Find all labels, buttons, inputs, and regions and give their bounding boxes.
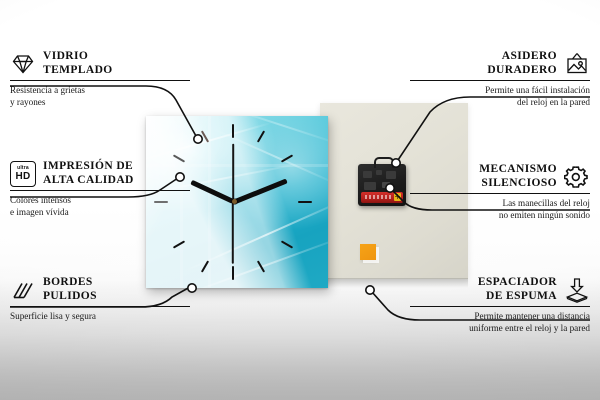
wall-hanger-icon [564, 51, 590, 77]
hd-label: HD [15, 171, 30, 182]
ultra-hd-icon: ultra HD [10, 161, 36, 187]
clock-tick [298, 201, 312, 203]
battery-positive-terminal [394, 193, 401, 201]
callout-espaciador-de-espuma[interactable]: ESPACIADORDE ESPUMA Permite mantener una… [410, 276, 590, 334]
callout-asidero-duradero[interactable]: ASIDERODURADERO Permite una fácil instal… [410, 50, 590, 108]
battery-label [365, 195, 391, 199]
gear-icon [564, 164, 590, 190]
mechanism-detail [382, 182, 390, 188]
callout-title: MECANISMOSILENCIOSO [479, 163, 557, 190]
mechanism-hanger-hook [374, 157, 394, 168]
callout-description: Resistencia a grietasy rayones [10, 85, 190, 108]
callout-title: VIDRIOTEMPLADO [43, 50, 113, 77]
callout-description: Colores intensose imagen vívida [10, 195, 190, 218]
callout-header: ultra HD IMPRESIÓN DEALTA CALIDAD [10, 160, 190, 187]
diamond-icon [10, 51, 36, 77]
callout-description: Permite mantener una distanciauniforme e… [410, 311, 590, 334]
mechanism-detail [376, 170, 382, 175]
callout-description: Permite una fácil instalacióndel reloj e… [410, 85, 590, 108]
callout-rule [410, 80, 590, 81]
callout-rule [10, 306, 190, 307]
callout-mecanismo-silencioso[interactable]: MECANISMOSILENCIOSO Las manecillas del r… [410, 163, 590, 221]
infographic-canvas: VIDRIOTEMPLADO Resistencia a grietasy ra… [0, 0, 600, 400]
battery [361, 192, 403, 203]
callout-rule [410, 306, 590, 307]
callout-rule [410, 193, 590, 194]
clock-center-pivot [232, 199, 237, 204]
clock-tick [232, 124, 234, 138]
callout-vidrio-templado[interactable]: VIDRIOTEMPLADO Resistencia a grietasy ra… [10, 50, 190, 108]
callout-rule [10, 190, 190, 191]
callout-title: ESPACIADORDE ESPUMA [478, 276, 557, 303]
clock-second-hand-tail [232, 144, 234, 202]
callout-title: IMPRESIÓN DEALTA CALIDAD [43, 160, 134, 187]
mechanism-detail [386, 171, 396, 179]
polished-edges-icon [10, 277, 36, 303]
callout-impresion-de-alta-calidad[interactable]: ultra HD IMPRESIÓN DEALTA CALIDAD Colore… [10, 160, 190, 218]
mechanism-detail [363, 171, 372, 178]
callout-header: MECANISMOSILENCIOSO [410, 163, 590, 190]
callout-header: BORDESPULIDOS [10, 276, 190, 303]
clock-mechanism [358, 164, 406, 206]
callout-description: Superficie lisa y segura [10, 311, 190, 323]
foam-spacer [360, 244, 376, 260]
callout-title: ASIDERODURADERO [487, 50, 557, 77]
callout-description: Las manecillas del relojno emiten ningún… [410, 198, 590, 221]
mechanism-detail [364, 182, 376, 190]
callout-header: ESPACIADORDE ESPUMA [410, 276, 590, 303]
callout-rule [10, 80, 190, 81]
clock-tick [232, 266, 234, 280]
foam-spacer-icon [564, 277, 590, 303]
callout-title: BORDESPULIDOS [43, 276, 97, 303]
callout-bordes-pulidos[interactable]: BORDESPULIDOS Superficie lisa y segura [10, 276, 190, 323]
clock-second-hand [232, 202, 234, 264]
callout-header: VIDRIOTEMPLADO [10, 50, 190, 77]
callout-header: ASIDERODURADERO [410, 50, 590, 77]
